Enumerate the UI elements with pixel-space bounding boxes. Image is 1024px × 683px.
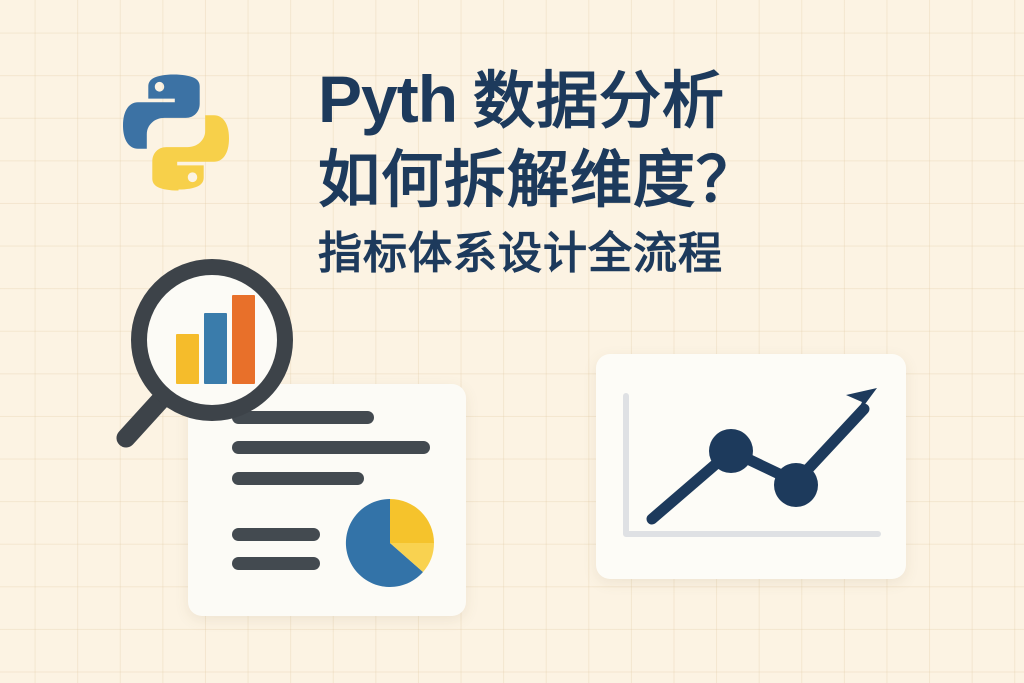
poster-canvas: Pyth 数据分析 如何拆解维度？ 指标体系设计全流程 bbox=[0, 0, 1024, 683]
magnifier-svg bbox=[108, 248, 298, 448]
title-block: Pyth 数据分析 如何拆解维度？ 指标体系设计全流程 bbox=[318, 66, 918, 276]
pie-chart bbox=[344, 497, 436, 589]
python-logo-blue-half bbox=[123, 75, 200, 149]
line-chart-svg bbox=[596, 354, 906, 579]
title-line-1: Pyth 数据分析 bbox=[318, 66, 918, 140]
magnifier-bar-1 bbox=[176, 334, 199, 384]
subtitle: 指标体系设计全流程 bbox=[318, 232, 918, 276]
line-chart-card bbox=[596, 354, 906, 579]
python-logo bbox=[112, 68, 240, 196]
title-line-2: 如何拆解维度？ bbox=[318, 150, 918, 212]
magnifier-bar-2 bbox=[204, 313, 227, 384]
document-text-line bbox=[232, 472, 364, 485]
python-logo-yellow-half bbox=[152, 115, 229, 190]
title-latin-text: Pyth bbox=[318, 66, 457, 132]
chart-line bbox=[652, 409, 864, 519]
magnifier-bar-3 bbox=[232, 295, 255, 384]
pie-slice-yellow-dark bbox=[390, 499, 434, 543]
chart-data-point bbox=[709, 429, 753, 473]
document-text-line bbox=[232, 528, 320, 541]
document-text-line bbox=[232, 557, 320, 570]
magnifier-bar-chart-icon bbox=[108, 248, 298, 448]
chart-data-point bbox=[774, 463, 818, 507]
pie-chart-svg bbox=[344, 497, 436, 589]
title-cjk-text: 数据分析 bbox=[473, 71, 725, 133]
python-logo-svg bbox=[112, 68, 240, 196]
